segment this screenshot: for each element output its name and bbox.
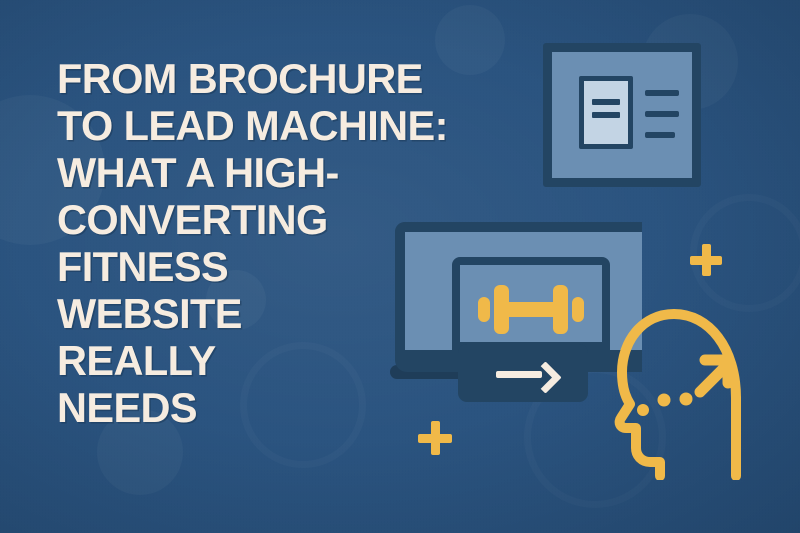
headline-line: NEEDS	[57, 384, 477, 431]
head-profile-icon	[612, 298, 748, 480]
document-panel-bar	[592, 112, 620, 118]
document-text-line	[645, 111, 679, 117]
headline-line: WEBSITE	[57, 290, 477, 337]
document-panel-bar	[592, 99, 620, 105]
dumbbell-bar	[507, 302, 555, 317]
headline-line: REALLY	[57, 337, 477, 384]
document-text-line	[645, 132, 675, 138]
idea-arrow-shaft	[700, 368, 724, 392]
arrow-head	[529, 361, 562, 394]
plus-mark-top	[690, 244, 722, 276]
head-profile-svg	[612, 298, 748, 480]
head-outline-path	[620, 314, 736, 476]
headline-line: FITNESS	[57, 243, 477, 290]
poster-canvas: FROM BROCHURE TO LEAD MACHINE: WHAT A HI…	[0, 0, 800, 533]
idea-dot	[658, 394, 671, 407]
page-title: FROM BROCHURE TO LEAD MACHINE: WHAT A HI…	[57, 55, 477, 431]
arrow-right-icon	[496, 363, 558, 385]
document-text-line	[645, 90, 679, 96]
dumbbell-weight-outer-right	[572, 297, 584, 322]
document-panel	[579, 76, 633, 149]
idea-dot	[680, 393, 693, 406]
dumbbell-weight-outer-left	[478, 297, 490, 322]
plus-vertical-bar	[702, 244, 711, 276]
cta-button[interactable]	[458, 344, 588, 402]
idea-dot	[637, 404, 649, 416]
headline-line: CONVERTING	[57, 196, 477, 243]
headline-line: TO LEAD MACHINE:	[57, 102, 477, 149]
dumbbell-weight-inner-right	[553, 285, 568, 334]
document-card-icon	[543, 43, 701, 187]
headline-line: WHAT A HIGH-	[57, 149, 477, 196]
headline-line: FROM BROCHURE	[57, 55, 477, 102]
dumbbell-icon	[478, 281, 584, 337]
